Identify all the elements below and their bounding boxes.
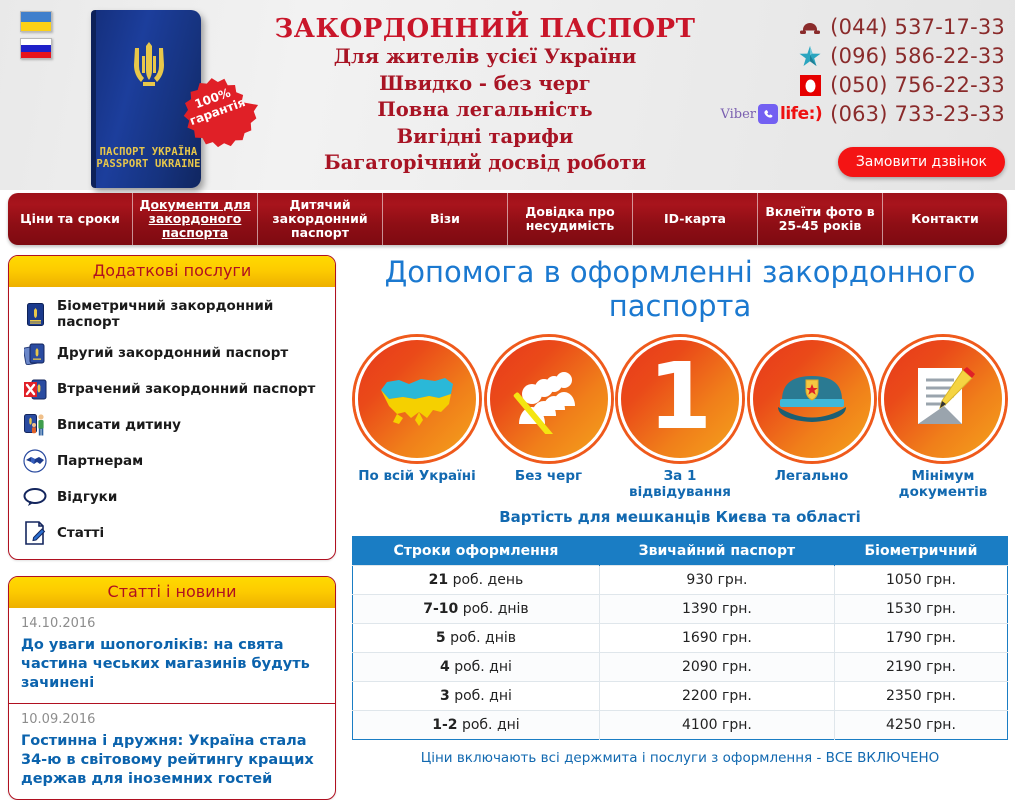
news-list: 14.10.2016 До уваги шопоголіків: на свят… bbox=[9, 608, 335, 799]
main-content: Допомога в оформленні закордонного паспо… bbox=[350, 255, 1010, 766]
callback-button[interactable]: Замовити дзвінок bbox=[838, 147, 1005, 177]
feature-circle bbox=[881, 337, 1005, 461]
feature-label: Без черг bbox=[486, 468, 612, 484]
sidebar-item-second-passport[interactable]: Другий закордонний паспорт bbox=[9, 335, 335, 371]
main-navigation: Ціни та сроки Документи для закордоного … bbox=[8, 193, 1007, 245]
phone-number[interactable]: (050) 756-22-33 bbox=[830, 73, 1005, 97]
feature-label: За 1 відвідування bbox=[617, 468, 743, 500]
column-header-regular: Звичайний паспорт bbox=[599, 537, 834, 566]
list-item[interactable]: 14.10.2016 До уваги шопоголіків: на свят… bbox=[9, 608, 335, 704]
cell-regular-price: 2090 грн. bbox=[599, 653, 834, 682]
feature-label: По всій Україні bbox=[354, 468, 480, 484]
nav-item-visas[interactable]: Візи bbox=[383, 193, 508, 245]
feature-circle bbox=[750, 337, 874, 461]
feature-min-documents[interactable]: Мінімум документів bbox=[880, 337, 1006, 500]
sidebar-item-label: Втрачений закордонний паспорт bbox=[57, 381, 315, 397]
news-title-link[interactable]: До уваги шопоголіків: на свята частина ч… bbox=[21, 636, 323, 693]
nav-item-prices[interactable]: Ціни та сроки bbox=[8, 193, 133, 245]
sidebar-item-add-child[interactable]: Вписати дитину bbox=[9, 407, 335, 443]
cell-regular-price: 1690 грн. bbox=[599, 624, 834, 653]
services-list: Біометричний закордонний паспорт Другий … bbox=[9, 287, 335, 559]
cell-biometric-price: 2190 грн. bbox=[834, 653, 1007, 682]
sidebar-item-partners[interactable]: Партнерам bbox=[9, 443, 335, 479]
cell-regular-price: 1390 грн. bbox=[599, 595, 834, 624]
nav-item-criminal-record[interactable]: Довідка про несудимість bbox=[508, 193, 633, 245]
sidebar-item-label: Біометричний закордонний паспорт bbox=[57, 298, 325, 330]
document-pen-icon bbox=[23, 520, 47, 546]
officer-cap-icon bbox=[772, 368, 852, 430]
viber-logo-icon bbox=[758, 104, 778, 124]
sidebar-item-lost-passport[interactable]: Втрачений закордонний паспорт bbox=[9, 371, 335, 407]
table-row: 3 роб. дні 2200 грн. 2350 грн. bbox=[353, 682, 1008, 711]
phone-list: (044) 537-17-33 (096) 586-22-33 (050) 75… bbox=[720, 14, 1005, 127]
sidebar-item-label: Другий закордонний паспорт bbox=[57, 345, 288, 361]
cell-biometric-price: 1530 грн. bbox=[834, 595, 1007, 624]
passport-illustration: ПАСПОРТ УКРАЇНА PASSPORT UKRAINE 100% га… bbox=[83, 10, 258, 188]
viber-life-icon: Viber life:) bbox=[720, 104, 822, 124]
cell-term: 5 роб. днів bbox=[353, 624, 600, 653]
sidebar-item-label: Вписати дитину bbox=[57, 417, 181, 433]
nav-item-child-passport[interactable]: Дитячий закордонний паспорт bbox=[258, 193, 383, 245]
tagline-2: Швидко - без черг bbox=[270, 71, 700, 98]
price-table: Строки оформлення Звичайний паспорт Біом… bbox=[352, 536, 1008, 740]
two-passports-icon bbox=[23, 340, 47, 366]
feature-all-ukraine[interactable]: По всій Україні bbox=[354, 337, 480, 500]
phone-row[interactable]: (096) 586-22-33 bbox=[798, 43, 1005, 69]
price-table-caption: Вартість для мешканців Києва та області bbox=[350, 508, 1010, 526]
lost-passport-icon bbox=[23, 376, 47, 402]
list-item[interactable]: 10.09.2016 Гостинна і дружня: Україна ст… bbox=[9, 704, 335, 799]
cell-biometric-price: 1790 грн. bbox=[834, 624, 1007, 653]
nav-item-id-card[interactable]: ID-карта bbox=[633, 193, 758, 245]
sidebar-item-reviews[interactable]: Відгуки bbox=[9, 479, 335, 515]
cell-term: 3 роб. дні bbox=[353, 682, 600, 711]
ukrainian-flag-icon[interactable] bbox=[20, 11, 52, 32]
feature-label: Легально bbox=[749, 468, 875, 484]
tagline-4: Вигідні тарифи bbox=[270, 124, 700, 151]
hero-text-block: ЗАКОРДОННИЙ ПАСПОРТ Для жителів усієї Ук… bbox=[270, 14, 700, 177]
ukraine-trident-icon bbox=[128, 40, 170, 96]
russian-flag-icon[interactable] bbox=[20, 38, 52, 59]
handshake-icon bbox=[23, 448, 47, 474]
sidebar-item-label: Партнерам bbox=[57, 453, 143, 469]
sidebar-item-biometric-passport[interactable]: Біометричний закордонний паспорт bbox=[9, 293, 335, 335]
viber-label: Viber bbox=[720, 107, 756, 122]
services-panel-title: Додаткові послуги bbox=[9, 256, 335, 287]
column-header-biometric: Біометричний bbox=[834, 537, 1007, 566]
cell-regular-price: 4100 грн. bbox=[599, 711, 834, 740]
tagline-3: Повна легальність bbox=[270, 97, 700, 124]
passport-caption: ПАСПОРТ УКРАЇНА PASSPORT UKRAINE bbox=[96, 146, 201, 170]
cell-biometric-price: 4250 грн. bbox=[834, 711, 1007, 740]
table-row: 4 роб. дні 2090 грн. 2190 грн. bbox=[353, 653, 1008, 682]
phone-row[interactable]: Viber life:) (063) 733-23-33 bbox=[720, 101, 1005, 127]
news-panel-title: Статті і новини bbox=[9, 577, 335, 608]
number-one-icon: 1 bbox=[648, 351, 712, 443]
news-date: 14.10.2016 bbox=[21, 616, 323, 631]
nav-item-contacts[interactable]: Контакти bbox=[883, 193, 1007, 245]
kyivstar-star-icon bbox=[798, 45, 822, 67]
feature-one-visit[interactable]: 1 За 1 відвідування bbox=[617, 337, 743, 500]
table-row: 1-2 роб. дні 4100 грн. 4250 грн. bbox=[353, 711, 1008, 740]
cell-regular-price: 930 грн. bbox=[599, 566, 834, 595]
phone-row[interactable]: (044) 537-17-33 bbox=[798, 14, 1005, 40]
cell-biometric-price: 1050 грн. bbox=[834, 566, 1007, 595]
feature-circle bbox=[355, 337, 479, 461]
cell-term: 1-2 роб. дні bbox=[353, 711, 600, 740]
phone-number[interactable]: (063) 733-23-33 bbox=[830, 102, 1005, 126]
table-row: 21 роб. день 930 грн. 1050 грн. bbox=[353, 566, 1008, 595]
sidebar-item-label: Відгуки bbox=[57, 489, 117, 505]
cell-biometric-price: 2350 грн. bbox=[834, 682, 1007, 711]
phone-number[interactable]: (044) 537-17-33 bbox=[830, 15, 1005, 39]
passport-book-icon bbox=[23, 301, 47, 327]
sidebar-item-label: Статті bbox=[57, 525, 104, 541]
language-switcher[interactable] bbox=[20, 11, 52, 59]
news-title-link[interactable]: Гостинна і дружня: Україна стала 34-ю в … bbox=[21, 732, 323, 789]
tagline-1: Для жителів усієї України bbox=[270, 44, 700, 71]
table-header-row: Строки оформлення Звичайний паспорт Біом… bbox=[353, 537, 1008, 566]
vodafone-drop-icon bbox=[798, 74, 822, 96]
feature-legal[interactable]: Легально bbox=[749, 337, 875, 500]
sidebar-item-articles[interactable]: Статті bbox=[9, 515, 335, 551]
telephone-icon bbox=[798, 16, 822, 38]
feature-no-queue[interactable]: Без черг bbox=[486, 337, 612, 500]
news-date: 10.09.2016 bbox=[21, 712, 323, 727]
column-header-terms: Строки оформлення bbox=[353, 537, 600, 566]
site-header: ПАСПОРТ УКРАЇНА PASSPORT UKRAINE 100% га… bbox=[0, 0, 1015, 190]
cell-term: 21 роб. день bbox=[353, 566, 600, 595]
document-pencil-icon bbox=[906, 362, 980, 436]
feature-circle: 1 bbox=[618, 337, 742, 461]
additional-services-panel: Додаткові послуги Біометричний закордонн… bbox=[8, 255, 336, 560]
speech-bubble-icon bbox=[23, 484, 47, 510]
content-heading: Допомога в оформленні закордонного паспо… bbox=[350, 255, 1010, 323]
table-row: 7-10 роб. днів 1390 грн. 1530 грн. bbox=[353, 595, 1008, 624]
page-title: ЗАКОРДОННИЙ ПАСПОРТ bbox=[270, 14, 700, 44]
phone-number[interactable]: (096) 586-22-33 bbox=[830, 44, 1005, 68]
price-footnote: Ціни включають всі держмита і послуги з … bbox=[350, 750, 1010, 766]
life-label: life:) bbox=[780, 104, 822, 124]
passport-book-graphic: ПАСПОРТ УКРАЇНА PASSPORT UKRAINE bbox=[91, 10, 201, 188]
news-panel: Статті і новини 14.10.2016 До уваги шопо… bbox=[8, 576, 336, 800]
no-queue-icon bbox=[506, 364, 592, 434]
nav-item-documents[interactable]: Документи для закордоного паспорта bbox=[133, 193, 258, 245]
phone-row[interactable]: (050) 756-22-33 bbox=[798, 72, 1005, 98]
cell-term: 4 роб. дні bbox=[353, 653, 600, 682]
tagline-5: Багаторічний досвід роботи bbox=[270, 150, 700, 177]
feature-circle bbox=[487, 337, 611, 461]
parent-child-icon bbox=[23, 412, 47, 438]
cell-term: 7-10 роб. днів bbox=[353, 595, 600, 624]
cell-regular-price: 2200 грн. bbox=[599, 682, 834, 711]
table-row: 5 роб. днів 1690 грн. 1790 грн. bbox=[353, 624, 1008, 653]
feature-label: Мінімум документів bbox=[880, 468, 1006, 500]
sidebar: Додаткові послуги Біометричний закордонн… bbox=[8, 255, 336, 800]
ukraine-map-icon bbox=[375, 368, 459, 430]
nav-item-photo-paste[interactable]: Вклеїти фото в 25-45 років bbox=[758, 193, 883, 245]
feature-list: По всій Україні Без черг bbox=[350, 337, 1010, 500]
